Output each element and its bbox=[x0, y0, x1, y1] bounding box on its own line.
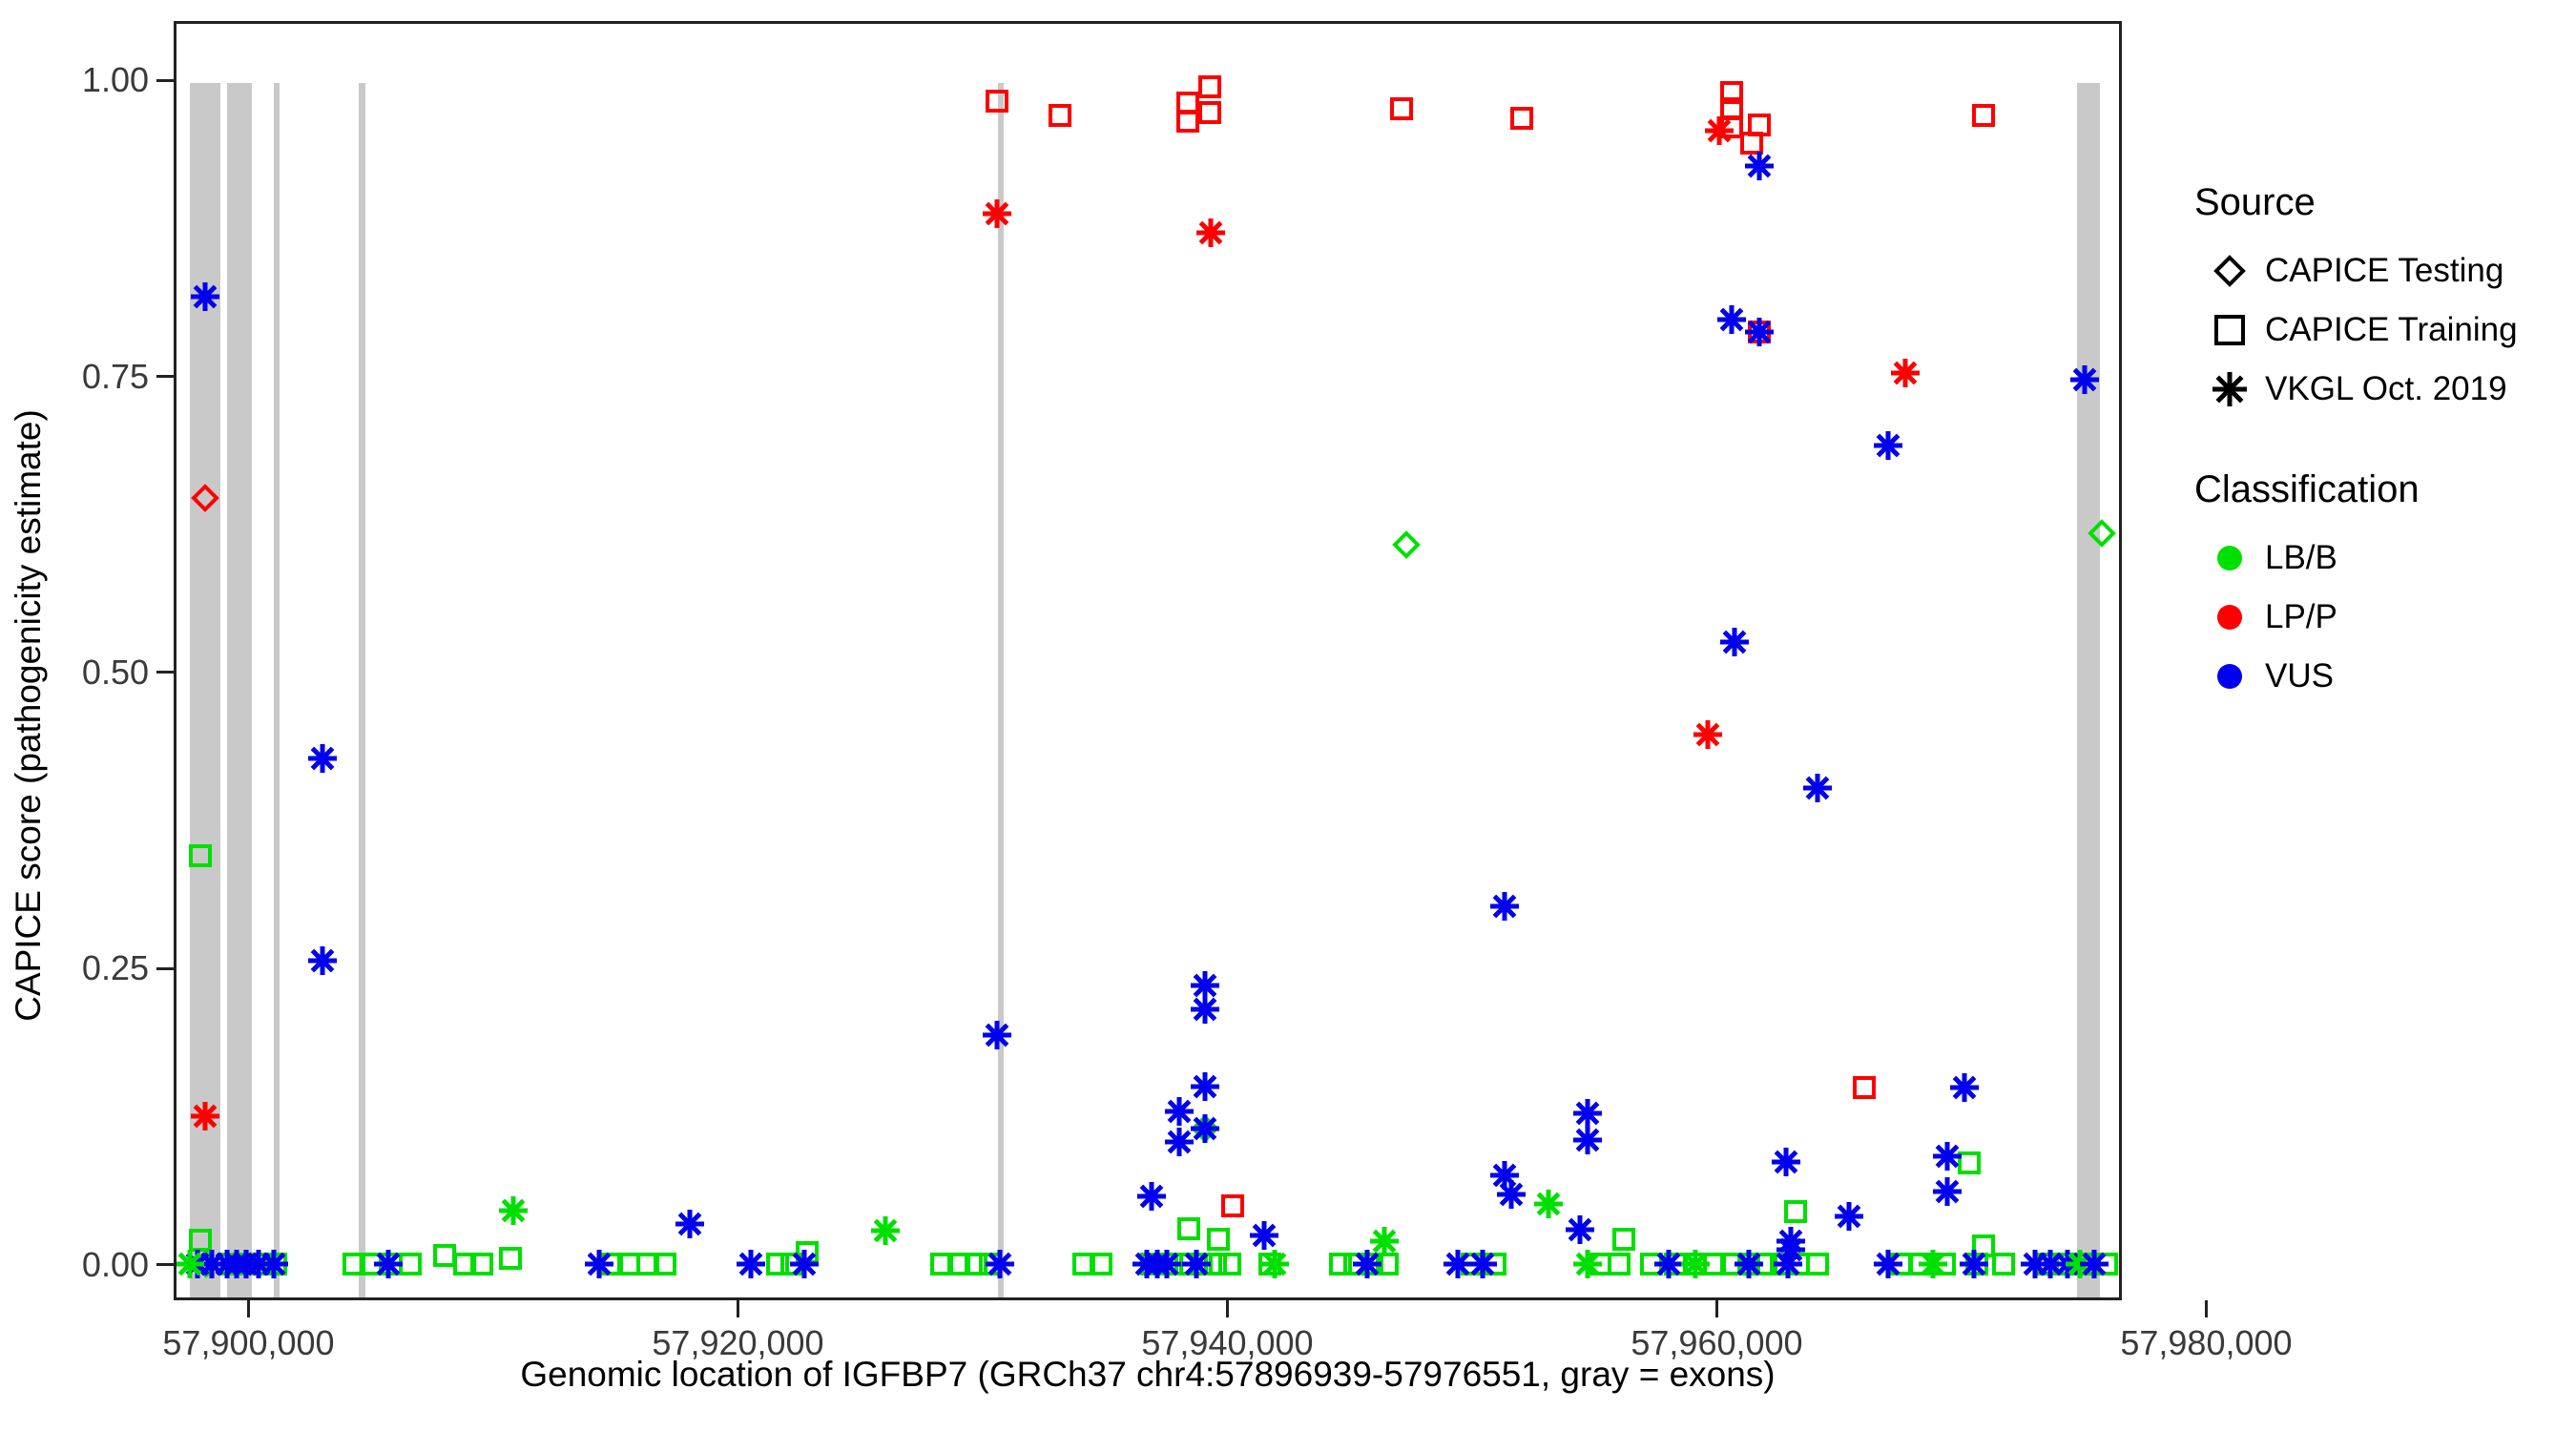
data-point-asterisk bbox=[869, 1214, 902, 1247]
data-point-asterisk bbox=[1189, 969, 1221, 1002]
legend-spacer bbox=[2194, 419, 2576, 468]
data-point-square bbox=[1588, 1252, 1612, 1276]
square-icon bbox=[2194, 314, 2265, 346]
data-point-square bbox=[1971, 1234, 1996, 1258]
data-point-asterisk bbox=[1931, 1140, 1963, 1172]
data-point-asterisk bbox=[1466, 1248, 1499, 1280]
data-point-square bbox=[1048, 103, 1072, 128]
data-point-square bbox=[1932, 1252, 1957, 1276]
data-point-asterisk bbox=[1571, 1124, 1604, 1156]
data-point-asterisk bbox=[1163, 1126, 1195, 1158]
data-point-asterisk bbox=[1189, 993, 1221, 1026]
x-axis-tick bbox=[1715, 1300, 1718, 1317]
data-point-square bbox=[653, 1252, 677, 1276]
data-point-square bbox=[1783, 1199, 1808, 1224]
data-point-square bbox=[2052, 1252, 2077, 1276]
data-point-square bbox=[1217, 1252, 1242, 1276]
data-point-asterisk bbox=[1679, 1248, 1712, 1280]
y-axis-tick bbox=[156, 1263, 174, 1266]
legend-item-label: CAPICE Testing bbox=[2265, 252, 2503, 290]
data-point-square bbox=[1611, 1227, 1636, 1252]
exon-band bbox=[998, 83, 1004, 1300]
data-point-square bbox=[946, 1252, 971, 1276]
data-point-square bbox=[1175, 109, 1200, 134]
plot-panel bbox=[174, 21, 2122, 1300]
diamond-icon bbox=[2194, 255, 2265, 287]
data-point-square bbox=[379, 1252, 404, 1276]
y-axis-tick-label: 0.50 bbox=[82, 653, 149, 693]
data-point-square bbox=[964, 1252, 988, 1276]
data-point-asterisk bbox=[1163, 1095, 1195, 1128]
exon-band bbox=[359, 83, 364, 1300]
y-axis-tick bbox=[156, 375, 174, 378]
data-point-asterisk bbox=[1135, 1180, 1168, 1213]
data-point-square bbox=[1719, 96, 1744, 121]
data-point-asterisk bbox=[1564, 1213, 1596, 1246]
legend-item-square[interactable]: CAPICE Training bbox=[2194, 301, 2576, 360]
data-point-square bbox=[1683, 1252, 1708, 1276]
data-point-asterisk bbox=[1743, 316, 1776, 348]
data-point-square bbox=[1736, 1252, 1761, 1276]
x-axis-tick bbox=[247, 1300, 250, 1317]
data-point-asterisk bbox=[1189, 1112, 1221, 1145]
data-point-asterisk bbox=[1248, 1219, 1280, 1252]
data-point-square bbox=[498, 1246, 523, 1271]
legend: Source CAPICE Testing CAPICE TrainingVKG… bbox=[2194, 181, 2576, 706]
data-point-square bbox=[1206, 1227, 1231, 1252]
data-point-square bbox=[1719, 114, 1744, 139]
data-point-asterisk bbox=[1189, 1070, 1221, 1103]
data-point-asterisk bbox=[1258, 1248, 1291, 1280]
data-point-square bbox=[1607, 1252, 1631, 1276]
exon-band bbox=[2077, 83, 2100, 1300]
legend-item-diamond[interactable]: CAPICE Testing bbox=[2194, 241, 2576, 301]
y-axis-tick bbox=[156, 671, 174, 674]
data-point-square bbox=[1203, 1252, 1228, 1276]
data-point-square bbox=[635, 1252, 660, 1276]
legend-item-label: CAPICE Training bbox=[2265, 311, 2518, 349]
x-axis-tick bbox=[737, 1300, 739, 1317]
data-point-square bbox=[1071, 1252, 1096, 1276]
x-axis-tick-label: 57,980,000 bbox=[2120, 1323, 2292, 1363]
x-axis-tick bbox=[1226, 1300, 1229, 1317]
data-point-square bbox=[1257, 1252, 1282, 1276]
data-point-square bbox=[1719, 80, 1744, 105]
legend-item-lb-b[interactable]: LB/B bbox=[2194, 529, 2576, 588]
data-point-square bbox=[1176, 1216, 1201, 1241]
data-point-square bbox=[1769, 1252, 1794, 1276]
data-point-square bbox=[1754, 1252, 1778, 1276]
y-axis: 0.000.250.500.751.00 bbox=[0, 21, 174, 1300]
data-point-square bbox=[1389, 96, 1414, 121]
chart-root: CAPICE score (pathogenicity estimate) 0.… bbox=[0, 0, 2576, 1431]
data-point-square bbox=[765, 1252, 790, 1276]
data-point-square bbox=[2035, 1252, 2060, 1276]
data-point-asterisk bbox=[1958, 1248, 1990, 1280]
legend-item-label: VKGL Oct. 2019 bbox=[2265, 370, 2507, 408]
data-point-asterisk bbox=[1772, 1248, 1804, 1280]
data-point-asterisk bbox=[981, 1019, 1013, 1051]
legend-title-classification: Classification bbox=[2194, 468, 2576, 511]
legend-title-source: Source bbox=[2194, 181, 2576, 224]
data-point-asterisk bbox=[1488, 890, 1521, 923]
data-point-square bbox=[1786, 1252, 1811, 1276]
data-point-asterisk bbox=[1775, 1225, 1807, 1257]
data-point-square bbox=[1747, 113, 1772, 137]
data-point-square bbox=[1509, 106, 1534, 131]
data-point-asterisk bbox=[1351, 1248, 1383, 1280]
data-point-asterisk bbox=[1801, 772, 1834, 804]
data-point-square bbox=[1747, 320, 1772, 344]
data-point-asterisk bbox=[1488, 1159, 1521, 1192]
data-point-square bbox=[1460, 1252, 1485, 1276]
data-point-asterisk bbox=[1442, 1248, 1474, 1280]
data-point-square bbox=[1739, 131, 1764, 156]
data-point-square bbox=[1342, 1252, 1367, 1276]
data-point-square bbox=[1197, 100, 1222, 125]
exon-band bbox=[190, 83, 220, 1300]
y-axis-tick-label: 0.25 bbox=[82, 948, 149, 988]
data-point-asterisk bbox=[1532, 1188, 1565, 1220]
data-point-square bbox=[1888, 1252, 1913, 1276]
x-axis: 57,900,00057,920,00057,940,00057,960,000… bbox=[174, 1300, 2122, 1358]
data-point-square bbox=[1139, 1252, 1164, 1276]
data-point-square bbox=[1375, 1252, 1400, 1276]
data-point-square bbox=[616, 1252, 641, 1276]
data-point-asterisk bbox=[1718, 626, 1751, 658]
data-point-asterisk bbox=[1692, 718, 1724, 751]
data-point-diamond bbox=[1191, 1114, 1219, 1143]
data-point-square bbox=[1175, 91, 1200, 115]
color-swatch-icon bbox=[2194, 542, 2265, 574]
data-point-asterisk bbox=[1872, 429, 1904, 462]
data-point-asterisk bbox=[1131, 1248, 1163, 1280]
x-axis-title: Genomic location of IGFBP7 (GRCh37 chr4:… bbox=[174, 1355, 2122, 1395]
data-point-asterisk bbox=[1715, 303, 1748, 336]
data-point-square bbox=[795, 1240, 820, 1265]
data-point-asterisk bbox=[1743, 150, 1776, 182]
data-point-asterisk bbox=[1495, 1178, 1527, 1211]
data-point-asterisk bbox=[306, 742, 339, 775]
data-point-square bbox=[1991, 1252, 2016, 1276]
x-axis-tick bbox=[2205, 1300, 2208, 1317]
data-point-asterisk bbox=[2034, 1248, 2067, 1280]
data-point-asterisk bbox=[1652, 1248, 1685, 1280]
legend-item-asterisk[interactable]: VKGL Oct. 2019 bbox=[2194, 360, 2576, 419]
data-point-asterisk bbox=[735, 1248, 767, 1280]
y-axis-tick-label: 0.75 bbox=[82, 357, 149, 397]
data-point-asterisk bbox=[1368, 1225, 1401, 1257]
data-point-asterisk bbox=[1917, 1248, 1949, 1280]
data-point-square bbox=[1483, 1252, 1507, 1276]
data-point-asterisk bbox=[1948, 1071, 1981, 1104]
data-point-asterisk bbox=[981, 197, 1013, 230]
data-point-asterisk bbox=[674, 1208, 706, 1240]
data-point-asterisk bbox=[1180, 1248, 1213, 1280]
data-point-square bbox=[469, 1252, 494, 1276]
data-point-asterisk bbox=[1833, 1200, 1865, 1233]
data-point-asterisk bbox=[1775, 1234, 1807, 1266]
data-point-square bbox=[1702, 1252, 1727, 1276]
data-point-square bbox=[1159, 1252, 1184, 1276]
data-point-asterisk bbox=[1141, 1248, 1174, 1280]
data-point-asterisk bbox=[1571, 1248, 1604, 1280]
data-point-asterisk bbox=[2019, 1248, 2051, 1280]
data-point-asterisk bbox=[1151, 1248, 1183, 1280]
data-point-square bbox=[398, 1252, 423, 1276]
color-swatch-icon bbox=[2194, 660, 2265, 693]
exon-band bbox=[274, 83, 280, 1300]
data-point-square bbox=[1639, 1252, 1664, 1276]
data-point-asterisk bbox=[788, 1248, 821, 1280]
data-point-asterisk bbox=[1872, 1248, 1904, 1280]
data-point-square bbox=[779, 1252, 804, 1276]
data-point-asterisk bbox=[1889, 357, 1922, 389]
color-swatch-icon bbox=[2194, 601, 2265, 633]
data-point-asterisk bbox=[1195, 217, 1227, 249]
legend-item-label: LP/P bbox=[2265, 598, 2337, 636]
exon-band bbox=[227, 83, 252, 1300]
legend-item-lp-p[interactable]: LP/P bbox=[2194, 588, 2576, 647]
data-point-square bbox=[1089, 1252, 1113, 1276]
data-point-square bbox=[929, 1252, 954, 1276]
data-point-square bbox=[1852, 1075, 1877, 1100]
legend-group-classification: LB/BLP/PVUS bbox=[2194, 529, 2576, 706]
data-point-asterisk bbox=[1931, 1175, 1963, 1208]
data-point-square bbox=[1964, 1252, 1989, 1276]
y-axis-tick bbox=[156, 79, 174, 82]
data-point-square bbox=[1663, 1252, 1688, 1276]
legend-item-label: VUS bbox=[2265, 657, 2334, 695]
data-point-asterisk bbox=[1770, 1146, 1802, 1178]
legend-group-source: CAPICE Testing CAPICE TrainingVKGL Oct. … bbox=[2194, 241, 2576, 419]
data-point-square bbox=[1174, 1252, 1198, 1276]
data-point-square bbox=[1189, 1252, 1214, 1276]
data-point-asterisk bbox=[497, 1194, 530, 1227]
data-point-square bbox=[249, 1252, 274, 1276]
data-point-asterisk bbox=[1571, 1097, 1604, 1130]
data-point-square bbox=[1360, 1252, 1384, 1276]
y-axis-tick-label: 0.00 bbox=[82, 1245, 149, 1285]
data-point-asterisk bbox=[306, 944, 339, 977]
data-point-square bbox=[432, 1243, 457, 1268]
data-point-diamond bbox=[1392, 530, 1421, 559]
data-point-square bbox=[1805, 1252, 1830, 1276]
data-point-square bbox=[1908, 1252, 1933, 1276]
data-point-square bbox=[1719, 1252, 1744, 1276]
data-point-asterisk bbox=[1733, 1248, 1765, 1280]
legend-item-label: LB/B bbox=[2265, 539, 2337, 577]
data-point-asterisk bbox=[1703, 114, 1735, 147]
data-point-asterisk bbox=[583, 1248, 615, 1280]
data-point-square bbox=[599, 1252, 624, 1276]
data-point-square bbox=[1197, 74, 1222, 99]
data-point-square bbox=[1971, 103, 1996, 128]
data-point-square bbox=[1328, 1252, 1353, 1276]
data-point-asterisk bbox=[372, 1248, 405, 1280]
data-point-square bbox=[452, 1252, 477, 1276]
y-axis-tick-label: 1.00 bbox=[82, 60, 149, 100]
data-point-square bbox=[1220, 1193, 1245, 1218]
data-point-square bbox=[985, 89, 1009, 114]
legend-item-vus[interactable]: VUS bbox=[2194, 647, 2576, 706]
asterisk-icon bbox=[2194, 370, 2265, 408]
data-point-square bbox=[1957, 1151, 1982, 1175]
y-axis-tick bbox=[156, 967, 174, 970]
